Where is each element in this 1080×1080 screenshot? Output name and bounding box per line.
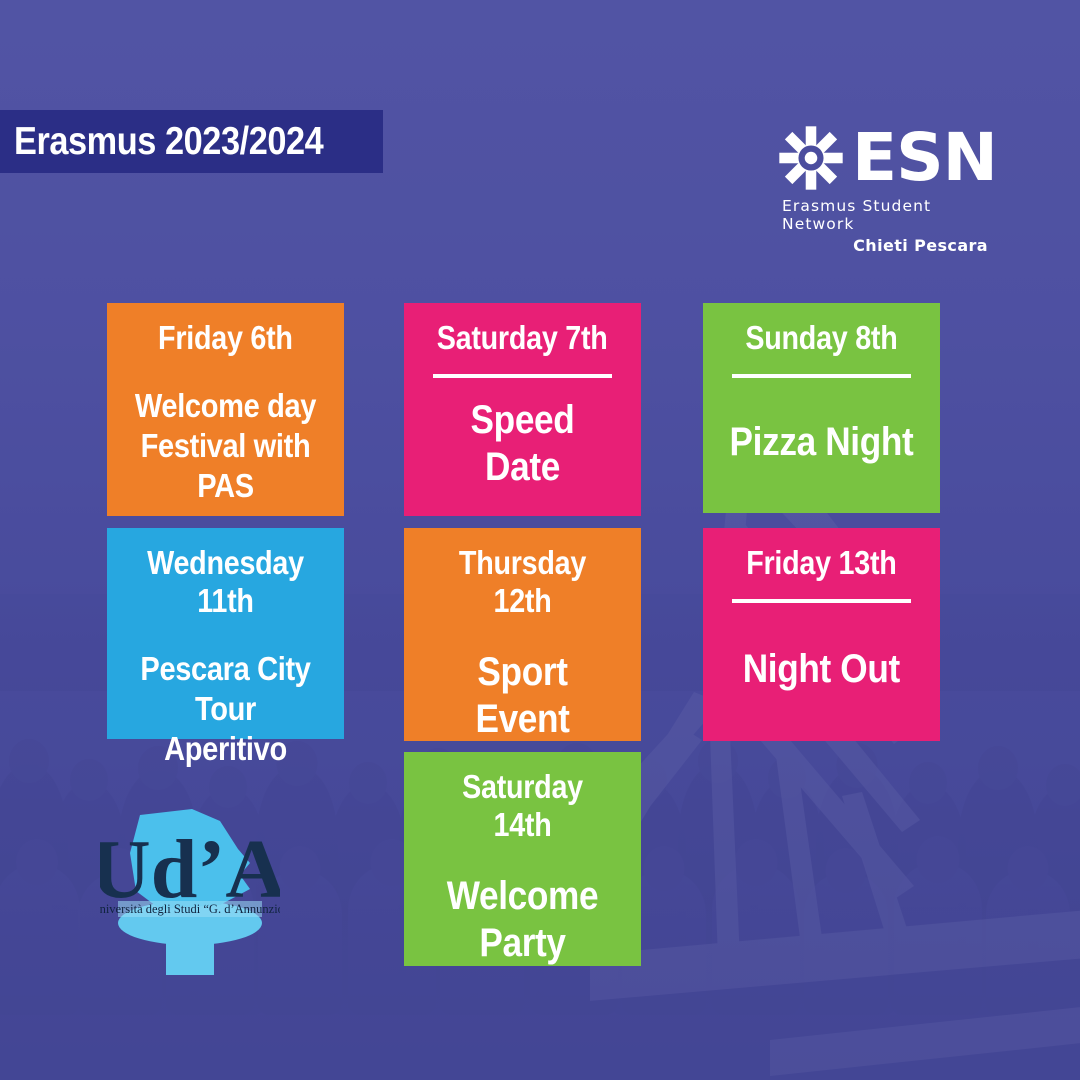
- event-card-title-line1: Pescara City Tour: [132, 649, 319, 729]
- event-card-day: Wednesday 11th: [133, 544, 318, 620]
- event-card-day: Sunday 8th: [745, 319, 897, 357]
- event-card-title-line1: Welcome day: [132, 386, 319, 426]
- event-card-friday-6th[interactable]: Friday 6th Welcome day Festival with PAS: [107, 303, 344, 516]
- esn-tagline: Erasmus Student Network: [778, 197, 988, 233]
- title-banner: Erasmus 2023/2024: [0, 110, 383, 173]
- event-card-title-line2: Festival with PAS: [132, 426, 319, 506]
- event-card-day: Thursday 12th: [430, 544, 615, 620]
- event-card-title: Speed Date: [429, 385, 616, 491]
- event-card-title: Sport Event: [429, 637, 616, 743]
- esn-logo: ESN Erasmus Student Network Chieti Pesca…: [778, 122, 988, 255]
- event-card-thursday-12th[interactable]: Thursday 12th Sport Event: [404, 528, 641, 741]
- event-card-divider: [732, 599, 911, 603]
- event-card-wednesday-11th[interactable]: Wednesday 11th Pescara City Tour Aperiti…: [107, 528, 344, 739]
- event-calendar-poster: Erasmus 2023/2024 ESN Erasmus Student Ne…: [0, 0, 1080, 1080]
- event-card-saturday-7th[interactable]: Saturday 7th Speed Date: [404, 303, 641, 516]
- uda-crest-icon: Università degli Studi “G. d’Annunzio” U…: [100, 805, 280, 985]
- esn-section-name: Chieti Pescara: [778, 236, 988, 255]
- event-card-day: Saturday 14th: [430, 768, 615, 844]
- event-card-title: Night Out: [743, 634, 900, 693]
- event-card-sunday-8th[interactable]: Sunday 8th Pizza Night: [703, 303, 940, 513]
- esn-wordmark: ESN: [852, 127, 997, 189]
- event-card-day: Friday 6th: [158, 319, 293, 357]
- event-card-title: Welcome Party: [429, 861, 616, 967]
- event-card-title: Pescara City Tour Aperitivo: [132, 637, 319, 769]
- esn-star-icon: [778, 125, 844, 191]
- event-card-title: Pizza Night: [730, 407, 914, 466]
- event-card-title: Welcome day Festival with PAS: [132, 374, 319, 506]
- event-card-day: Saturday 7th: [437, 319, 608, 357]
- event-card-divider: [732, 374, 911, 378]
- event-card-friday-13th[interactable]: Friday 13th Night Out: [703, 528, 940, 741]
- event-card-title-line2: Aperitivo: [132, 729, 319, 769]
- event-card-day: Friday 13th: [746, 544, 896, 582]
- page-title: Erasmus 2023/2024: [14, 120, 323, 164]
- event-card-divider: [433, 374, 612, 378]
- university-logo: Università degli Studi “G. d’Annunzio” U…: [100, 805, 280, 985]
- university-monogram: Ud’A: [100, 823, 280, 916]
- event-card-saturday-14th[interactable]: Saturday 14th Welcome Party: [404, 752, 641, 966]
